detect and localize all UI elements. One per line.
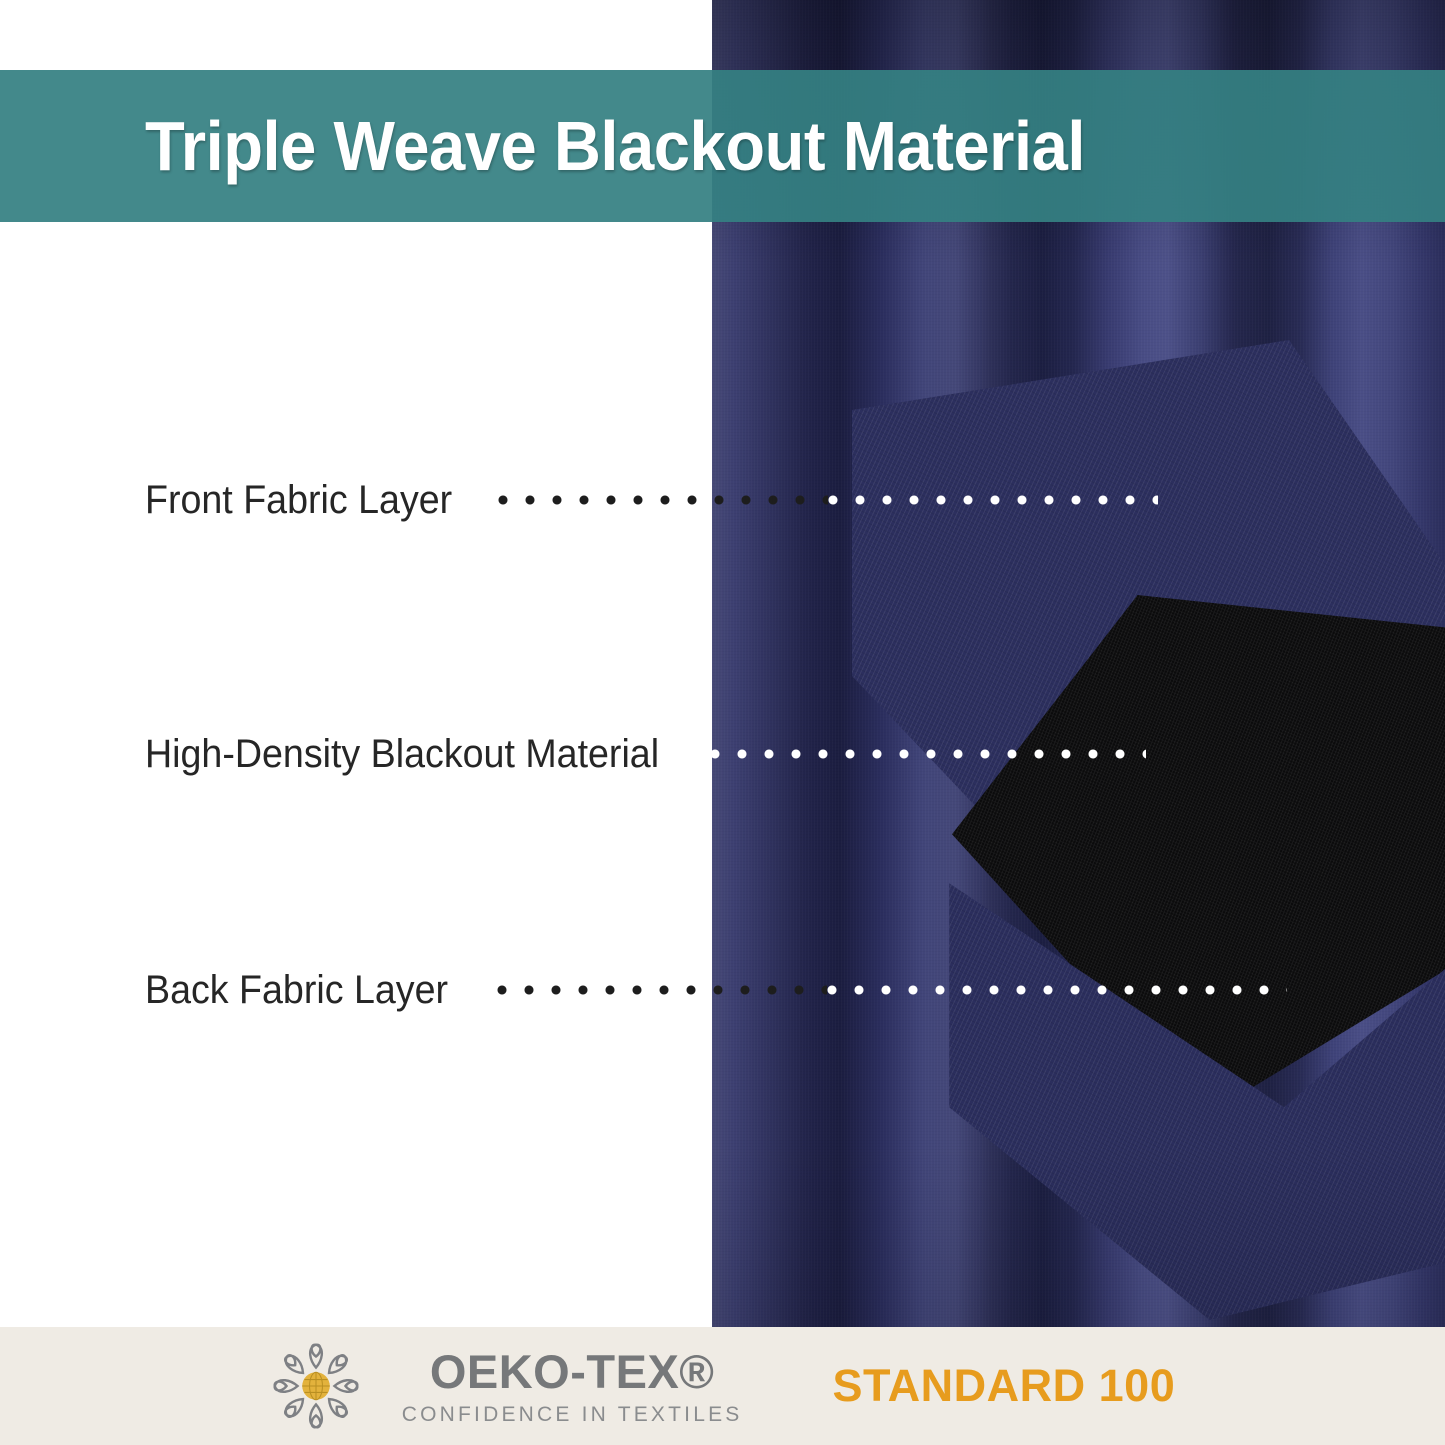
oeko-tex-name: OEKO-TEX® [430,1348,715,1395]
infographic-canvas: Triple Weave Blackout Material Front Fab… [0,0,1445,1445]
leader-dots-light [828,495,1158,505]
dotted-leader [692,730,1312,778]
callout-front-fabric-layer: Front Fabric Layer [145,476,1445,524]
leader-dots-light [710,749,1146,759]
leader-dots-dark [497,985,827,995]
oeko-tex-wordmark: OEKO-TEX® CONFIDENCE IN TEXTILES [402,1348,743,1425]
callout-label: Back Fabric Layer [145,968,448,1013]
oeko-tex-tagline: CONFIDENCE IN TEXTILES [402,1404,743,1425]
dotted-leader [467,966,1445,1014]
callout-high-density-blackout-material: High-Density Blackout Material [145,730,1312,778]
standard-100-label: STANDARD 100 [833,1360,1176,1412]
callout-label: Front Fabric Layer [145,478,452,523]
title-banner: Triple Weave Blackout Material [0,70,1445,222]
leader-dots-dark [498,495,828,505]
leader-dots-light [827,985,1287,995]
certification-footer: OEKO-TEX® CONFIDENCE IN TEXTILES STANDAR… [0,1327,1445,1445]
dotted-leader [472,476,1445,524]
oeko-tex-globe-icon [270,1340,362,1432]
oeko-tex-mark: OEKO-TEX® CONFIDENCE IN TEXTILES [270,1340,743,1432]
callout-label: High-Density Blackout Material [145,732,659,777]
page-title: Triple Weave Blackout Material [145,106,1085,186]
callout-back-fabric-layer: Back Fabric Layer [145,966,1445,1014]
